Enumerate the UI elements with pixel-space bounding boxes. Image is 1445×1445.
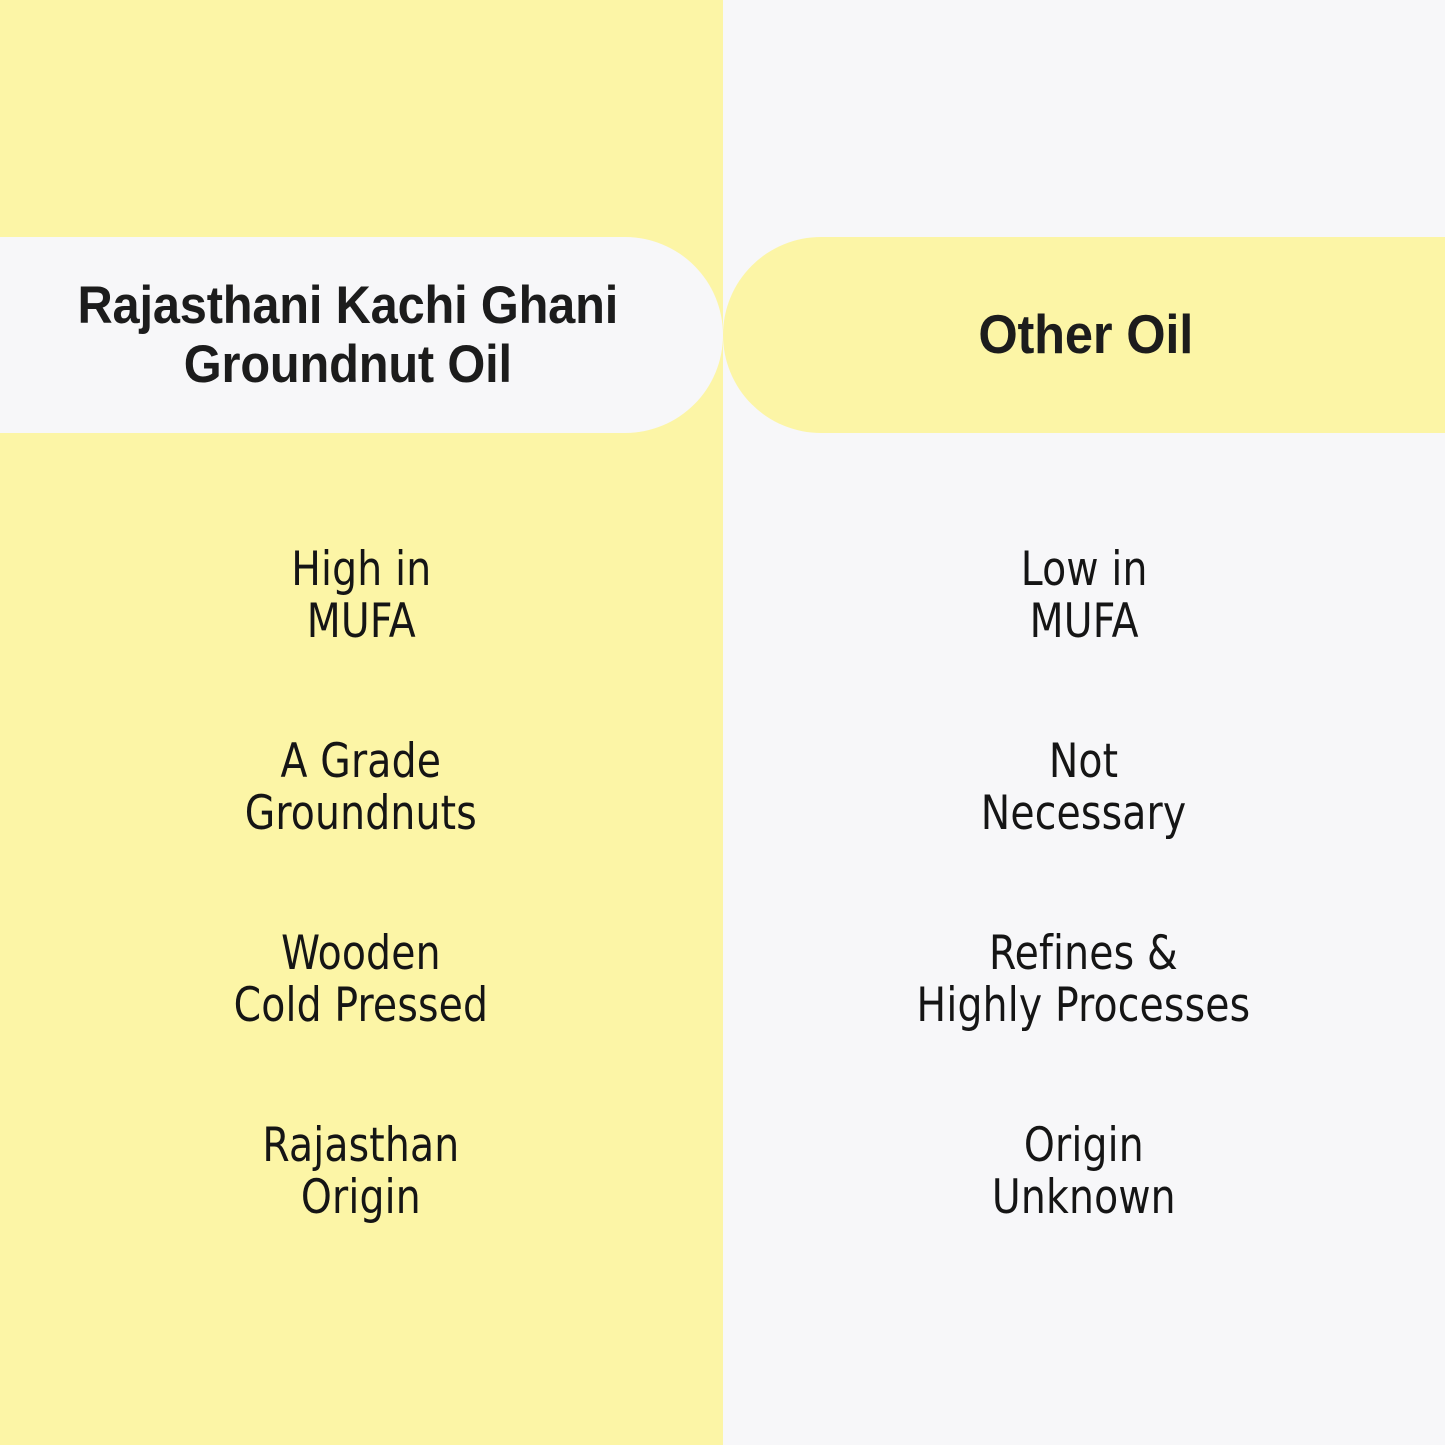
feature-row: Refines & Highly Processes xyxy=(723,884,1445,1076)
column-title-other-oil: Other Oil xyxy=(978,304,1193,366)
comparison-column-ours: Rajasthani Kachi Ghani Groundnut Oil Hig… xyxy=(0,0,723,1445)
feature-text: Not Necessary xyxy=(981,736,1187,839)
feature-row: Origin Unknown xyxy=(723,1076,1445,1268)
column-header-pill-ours: Rajasthani Kachi Ghani Groundnut Oil xyxy=(0,237,723,433)
feature-text: High in MUFA xyxy=(291,544,431,647)
feature-text: Refines & Highly Processes xyxy=(917,928,1251,1031)
feature-row: Low in MUFA xyxy=(723,500,1445,692)
feature-text: Rajasthan Origin xyxy=(263,1120,460,1223)
feature-list-theirs: Low in MUFA Not Necessary Refines & High… xyxy=(723,470,1445,1295)
column-header-pill-theirs: Other Oil xyxy=(723,237,1445,433)
feature-row: Wooden Cold Pressed xyxy=(0,884,723,1076)
feature-text: Low in MUFA xyxy=(1020,544,1147,647)
feature-list-ours: High in MUFA A Grade Groundnuts Wooden C… xyxy=(0,470,723,1295)
feature-text: Wooden Cold Pressed xyxy=(234,928,489,1031)
feature-row: High in MUFA xyxy=(0,500,723,692)
feature-row: A Grade Groundnuts xyxy=(0,692,723,884)
feature-text: Origin Unknown xyxy=(992,1120,1176,1223)
comparison-board: Rajasthani Kachi Ghani Groundnut Oil Hig… xyxy=(0,0,1445,1445)
feature-row: Not Necessary xyxy=(723,692,1445,884)
comparison-column-theirs: Other Oil Low in MUFA Not Necessary Refi… xyxy=(723,0,1445,1445)
feature-text: A Grade Groundnuts xyxy=(245,736,477,839)
feature-row: Rajasthan Origin xyxy=(0,1076,723,1268)
page-title: Rajasthani Kachi Ghani Groundnut Oil xyxy=(78,276,619,395)
